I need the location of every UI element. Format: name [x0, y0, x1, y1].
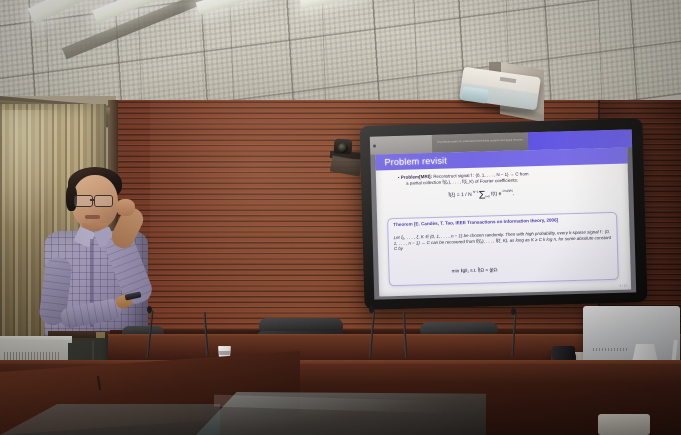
apple-logo-icon: [622, 314, 638, 333]
bullet-label: Problem[MRI]:: [401, 174, 433, 180]
theorem-statement: Let ξ₁, . . . , ξ_K ∈ {0, 1, . . . , n −…: [394, 229, 612, 252]
paper-cup-band: [219, 351, 230, 355]
microphone-head-5: [511, 308, 516, 315]
fourier-formula: f̂(ξ) = 1 / N N−1Σt=0 f(t) e−2πiξt/N,: [448, 189, 514, 200]
eyeglasses-left-lens-icon: [74, 195, 93, 207]
formula-end: ,: [513, 191, 515, 197]
camera-lens-icon: [338, 143, 348, 153]
desk-phone[interactable]: [598, 414, 650, 435]
thermos-cap[interactable]: [552, 346, 575, 360]
sum-lower-limit: t=0: [485, 194, 489, 198]
display-screen[interactable]: Comp-Load Theoretical results for underd…: [370, 129, 636, 299]
theorem-heading: Theorem [E. Candès, T. Tao, IEEE Transac…: [393, 216, 611, 228]
conference-room-photo: Comp-Load Theoretical results for underd…: [0, 0, 681, 435]
slide-body: • Problem[MRI]: Reconstruct signal f : {…: [376, 164, 631, 297]
formula-tail: f(t) e: [491, 191, 501, 197]
window-dot-icon: [373, 145, 376, 148]
formula-fraction: 1 / N: [461, 192, 472, 198]
microphone-head-3: [369, 306, 374, 313]
presentation-slide: Problem revisit • Problem[MRI]: Reconstr…: [375, 148, 631, 297]
presenter-mouth: [85, 215, 100, 219]
eyeglasses-bridge: [90, 199, 95, 201]
slide-title: Problem revisit: [384, 156, 447, 168]
presenter-raised-hand: [116, 199, 135, 216]
eyeglasses-right-lens-icon: [94, 195, 113, 207]
microphone-head-1: [147, 306, 152, 313]
theorem-box: Theorem [E. Candès, T. Tao, IEEE Transac…: [387, 212, 619, 286]
formula-lhs: f̂(ξ) =: [448, 192, 459, 198]
formula-exponent: −2πiξt/N: [501, 189, 512, 193]
theorem-equation: min ‖g‖₁ s.t. f̂|Ω = ĝ|Ω.: [452, 268, 499, 274]
imac-port-vents: [593, 348, 627, 351]
slide-page-number: 4 / 13: [619, 284, 627, 288]
